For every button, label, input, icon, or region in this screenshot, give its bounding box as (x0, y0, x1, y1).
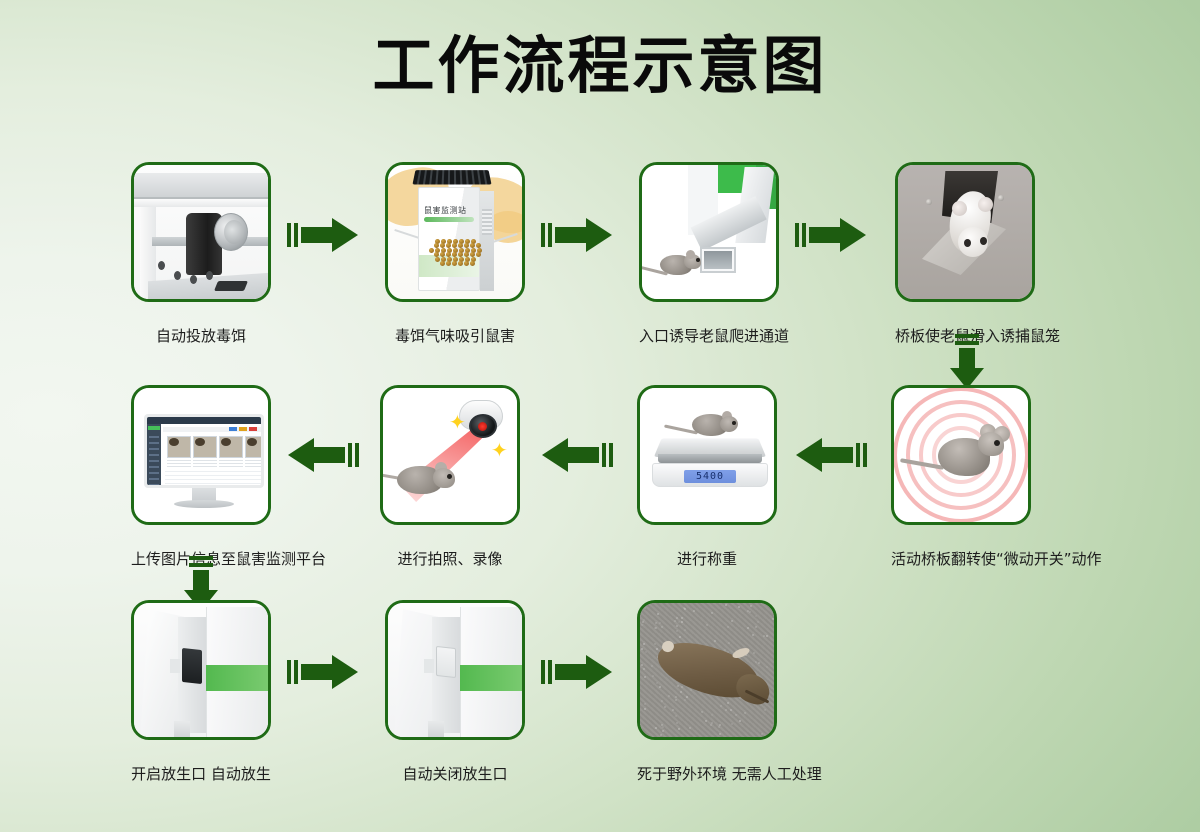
arrow-down-row1-row2 (948, 334, 986, 390)
arrow-right-4 (287, 653, 359, 691)
flow-step-2[interactable]: 鼠害监测站 毒饵气味吸引鼠害 (385, 162, 525, 302)
sparkle-icon: ✦ (491, 440, 508, 460)
arrow-left-1 (287, 436, 359, 474)
flow-step-6-image: ✦ ✦ (380, 385, 520, 525)
flow-step-11-image (637, 600, 777, 740)
flow-step-7[interactable]: 5400 进行称重 (637, 385, 777, 525)
arrow-left-3 (795, 436, 867, 474)
flow-step-5-image (131, 385, 271, 525)
page-title: 工作流程示意图 (0, 28, 1200, 104)
flow-step-3-label: 入口诱导老鼠爬进通道 (639, 326, 779, 346)
flow-step-3-image (639, 162, 779, 302)
flow-step-10-label: 自动关闭放生口 (385, 764, 525, 784)
flow-step-8-image (891, 385, 1031, 525)
flow-step-1[interactable]: 自动投放毒饵 (131, 162, 271, 302)
flow-step-8-label: 活动桥板翻转使“微动开关”动作 (891, 549, 1031, 569)
flow-step-1-image (131, 162, 271, 302)
flow-step-2-image: 鼠害监测站 (385, 162, 525, 302)
flow-step-11-label: 死于野外环境 无需人工处理 (637, 764, 777, 784)
arrow-left-2 (541, 436, 613, 474)
sparkle-icon: ✦ (449, 412, 466, 432)
flow-step-11[interactable]: 死于野外环境 无需人工处理 (637, 600, 777, 740)
flow-step-3[interactable]: 入口诱导老鼠爬进通道 (639, 162, 779, 302)
flow-step-9[interactable]: 开启放生口 自动放生 (131, 600, 271, 740)
flow-step-8[interactable]: 活动桥板翻转使“微动开关”动作 (891, 385, 1031, 525)
flow-step-10[interactable]: 自动关闭放生口 (385, 600, 525, 740)
flow-step-9-label: 开启放生口 自动放生 (131, 764, 271, 784)
arrow-right-2 (541, 216, 613, 254)
flow-step-4[interactable]: 桥板使老鼠滑入诱捕鼠笼 (895, 162, 1035, 302)
arrow-right-1 (287, 216, 359, 254)
flow-step-9-image (131, 600, 271, 740)
flow-step-2-label: 毒饵气味吸引鼠害 (385, 326, 525, 346)
workflow-diagram: 工作流程示意图 自动投放毒饵 (0, 0, 1200, 832)
flow-step-5[interactable]: 上传图片信息至鼠害监测平台 (131, 385, 271, 525)
bait-station-brand-text: 鼠害监测站 (424, 205, 476, 214)
flow-step-7-label: 进行称重 (637, 549, 777, 569)
arrow-right-5 (541, 653, 613, 691)
flow-step-6-label: 进行拍照、录像 (380, 549, 520, 569)
arrow-right-3 (795, 216, 867, 254)
flow-step-7-image: 5400 (637, 385, 777, 525)
flow-step-1-label: 自动投放毒饵 (131, 326, 271, 346)
flow-step-4-image (895, 162, 1035, 302)
flow-step-10-image (385, 600, 525, 740)
flow-step-6[interactable]: ✦ ✦ 进行拍照、录像 (380, 385, 520, 525)
scale-reading: 5400 (684, 470, 736, 483)
